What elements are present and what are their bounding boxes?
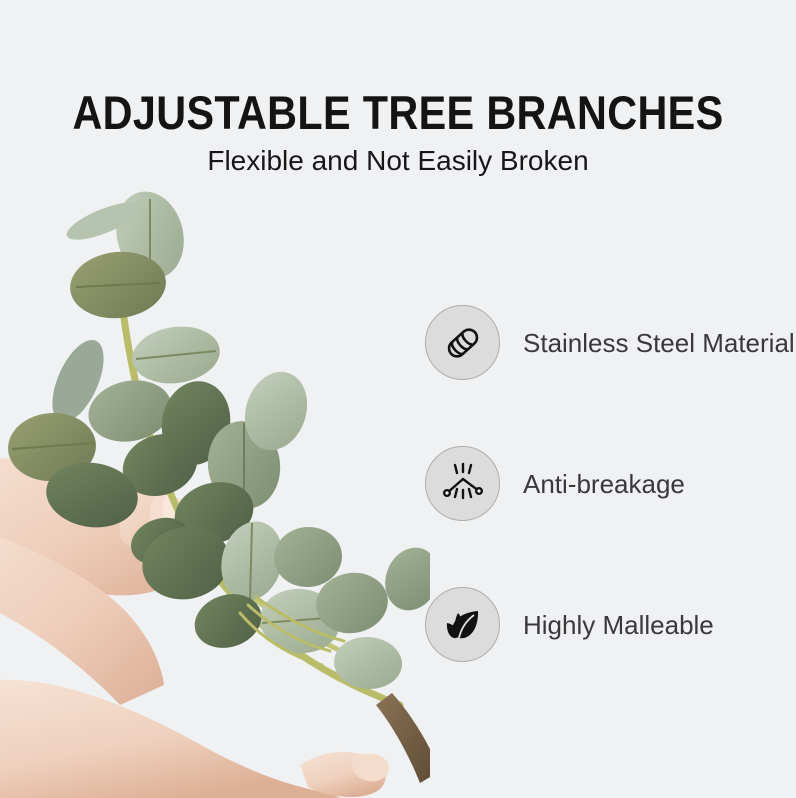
leaf-cluster-icon [442, 604, 484, 646]
feature-item-stainless-steel: Stainless Steel Material [425, 305, 796, 380]
product-feature-poster: ADJUSTABLE TREE BRANCHES Flexible and No… [0, 0, 796, 798]
feature-badge [425, 446, 500, 521]
product-photo [0, 165, 430, 798]
feature-item-anti-breakage: Anti-breakage [425, 446, 796, 521]
feature-label: Anti-breakage [523, 446, 685, 521]
feature-label: Highly Malleable [523, 587, 714, 662]
feature-item-highly-malleable: Highly Malleable [425, 587, 796, 662]
page-title: ADJUSTABLE TREE BRANCHES [48, 88, 748, 138]
page-subtitle: Flexible and Not Easily Broken [0, 143, 796, 179]
feature-badge [425, 305, 500, 380]
bending-rod-icon [439, 460, 487, 508]
steel-rods-icon [440, 320, 486, 366]
feature-list: Stainless Steel Material [425, 305, 796, 728]
feature-label: Stainless Steel Material [523, 305, 795, 380]
feature-badge [425, 587, 500, 662]
